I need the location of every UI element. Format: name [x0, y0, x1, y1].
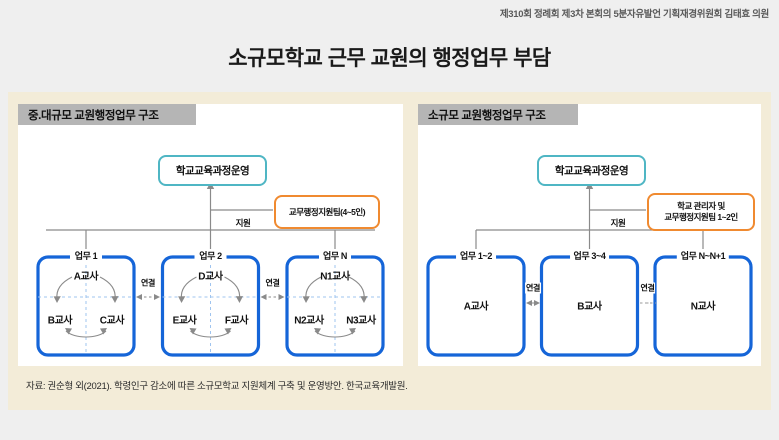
work-group-n-left: 업무 N N1교사 N2교사 N3교사	[287, 257, 383, 355]
work-group-n-right: 업무 N~N+1 N교사	[655, 257, 751, 355]
teacher-n1-left: N1교사	[320, 268, 350, 283]
teacher-a-left: A교사	[74, 268, 98, 283]
edge-label-connection-1-left: 연결	[140, 278, 156, 289]
support-team-line-2-right: 교무행정지원팀 1~2인	[664, 212, 737, 223]
support-team-line-1-right: 학교 관리자 및	[677, 201, 725, 212]
work-group-1-left: 업무 1 A교사 B교사 C교사	[38, 257, 134, 355]
node-school-curriculum-right: 학교교육과정운영	[537, 155, 646, 186]
teacher-f-left: F교사	[225, 312, 248, 327]
node-school-curriculum-left: 학교교육과정운영	[158, 155, 267, 186]
edge-label-support-right: 지원	[609, 217, 628, 229]
work-group-1-label-right: 업무 1~2	[456, 249, 496, 262]
work-group-2-right: 업무 3~4 B교사	[542, 257, 638, 355]
teacher-e-left: E교사	[173, 312, 197, 327]
teacher-b-left: B교사	[48, 312, 72, 327]
teacher-b-right: B교사	[577, 298, 601, 313]
work-group-1-label-left: 업무 1	[71, 249, 101, 262]
node-support-team-left: 교무행정지원팀(4~5인)	[274, 195, 380, 229]
teacher-a-right: A교사	[464, 298, 488, 313]
teacher-n-right: N교사	[691, 298, 715, 313]
slide-root: 제310회 정례회 제3차 본회의 5분자유발언 기획재경위원회 김태효 의원 …	[0, 0, 779, 440]
panel-body-large-school: 학교교육과정운영 교무행정지원팀(4~5인) 지원 업무 1 A교사 B교사 C…	[18, 125, 403, 366]
panel-large-school: 중.대규모 교원행정업무 구조	[18, 104, 403, 366]
work-group-1-right: 업무 1~2 A교사	[428, 257, 524, 355]
page-title: 소규모학교 근무 교원의 행정업무 부담	[0, 42, 779, 72]
support-team-line-1: 교무행정지원팀(4~5인)	[289, 207, 365, 218]
work-group-2-label-left: 업무 2	[195, 249, 225, 262]
work-group-2-left: 업무 2 D교사 E교사 F교사	[163, 257, 259, 355]
panel-body-small-school: 학교교육과정운영 학교 관리자 및 교무행정지원팀 1~2인 지원 업무 1~2…	[418, 125, 761, 366]
panel-small-school: 소규모 교원행정업무 구조	[418, 104, 761, 366]
teacher-d-left: D교사	[198, 268, 222, 283]
work-group-n-label-right: 업무 N~N+1	[677, 249, 729, 262]
work-group-2-label-right: 업무 3~4	[570, 249, 610, 262]
work-group-n-label-left: 업무 N	[319, 249, 351, 262]
edge-label-connection-2-left: 연결	[265, 278, 281, 289]
teacher-n2-left: N2교사	[294, 312, 324, 327]
panel-header-small-school: 소규모 교원행정업무 구조	[418, 104, 578, 125]
edge-label-connection-2-right: 연결	[640, 283, 656, 294]
source-note: 자료: 권순형 외(2021). 학령인구 감소에 따른 소규모학교 지원체계 …	[26, 378, 407, 392]
node-support-team-right: 학교 관리자 및 교무행정지원팀 1~2인	[647, 193, 755, 231]
teacher-c-left: C교사	[100, 312, 124, 327]
edge-label-connection-1-right: 연결	[525, 283, 541, 294]
session-header-note: 제310회 정례회 제3차 본회의 5분자유발언 기획재경위원회 김태효 의원	[500, 6, 769, 20]
panel-header-large-school: 중.대규모 교원행정업무 구조	[18, 104, 196, 125]
content-area: 중.대규모 교원행정업무 구조	[8, 92, 771, 410]
teacher-n3-left: N3교사	[346, 312, 376, 327]
edge-label-support-left: 지원	[234, 217, 253, 229]
